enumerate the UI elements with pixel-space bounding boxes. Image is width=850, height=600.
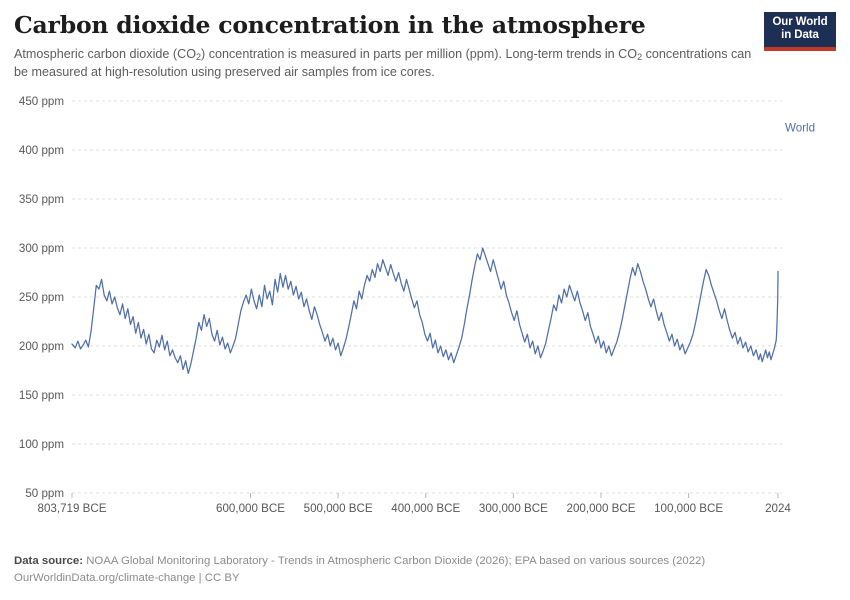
series-label-world: World	[785, 122, 815, 135]
y-axis-tick-label: 250 ppm	[19, 291, 64, 304]
y-axis-labels-group: 450 ppm400 ppm350 ppm300 ppm250 ppm200 p…	[19, 95, 64, 500]
logo-line-1: Our World	[769, 16, 831, 29]
owid-license-link[interactable]: OurWorldinData.org/climate-change | CC B…	[14, 572, 240, 584]
page-title: Carbon dioxide concentration in the atmo…	[14, 12, 836, 38]
y-axis-tick-label: 200 ppm	[19, 340, 64, 353]
gridlines-group	[72, 101, 782, 493]
x-axis-tick-label: 2024	[765, 502, 791, 515]
x-axis-tick-label: 100,000 BCE	[654, 502, 723, 515]
subscript-two-a: 2	[196, 52, 201, 62]
x-axis-tick-label: 200,000 BCE	[567, 502, 636, 515]
chart-container[interactable]: 450 ppm400 ppm350 ppm300 ppm250 ppm200 p…	[14, 91, 836, 531]
x-axis-tick-label: 400,000 BCE	[391, 502, 460, 515]
co2-line-chart[interactable]: 450 ppm400 ppm350 ppm300 ppm250 ppm200 p…	[14, 91, 836, 531]
chart-header: Carbon dioxide concentration in the atmo…	[14, 0, 836, 81]
y-axis-tick-label: 100 ppm	[19, 438, 64, 451]
chart-page: Carbon dioxide concentration in the atmo…	[0, 0, 850, 600]
logo-line-2: in Data	[769, 29, 831, 42]
series-labels-group: World	[785, 122, 815, 135]
y-axis-tick-label: 150 ppm	[19, 389, 64, 402]
data-source-text: NOAA Global Monitoring Laboratory - Tren…	[86, 555, 705, 567]
y-axis-tick-label: 50 ppm	[25, 487, 64, 500]
x-axis-tick-label: 300,000 BCE	[479, 502, 548, 515]
series-line-world[interactable]	[72, 248, 778, 373]
footer-link-line[interactable]: OurWorldinData.org/climate-change | CC B…	[14, 570, 836, 588]
x-axis-tick-label: 600,000 BCE	[216, 502, 285, 515]
y-axis-tick-label: 350 ppm	[19, 193, 64, 206]
y-axis-tick-label: 400 ppm	[19, 144, 64, 157]
subtitle-segment-1: Atmospheric carbon dioxide (CO	[14, 47, 196, 61]
chart-footer: Data source: NOAA Global Monitoring Labo…	[14, 553, 836, 588]
x-axis-tick-label: 500,000 BCE	[304, 502, 373, 515]
y-axis-tick-label: 450 ppm	[19, 95, 64, 108]
y-axis-tick-label: 300 ppm	[19, 242, 64, 255]
x-axis-ticks-group	[72, 493, 778, 498]
chart-subtitle: Atmospheric carbon dioxide (CO2) concent…	[14, 46, 764, 81]
series-lines-group[interactable]	[72, 248, 778, 373]
x-axis-labels-group: 803,719 BCE600,000 BCE500,000 BCE400,000…	[38, 502, 792, 515]
x-axis-tick-label: 803,719 BCE	[38, 502, 107, 515]
data-source-label: Data source:	[14, 555, 83, 567]
subtitle-segment-2: ) concentration is measured in parts per…	[201, 47, 637, 61]
data-source-line: Data source: NOAA Global Monitoring Labo…	[14, 553, 836, 571]
subscript-two-b: 2	[637, 52, 642, 62]
our-world-in-data-logo[interactable]: Our World in Data	[764, 12, 836, 51]
